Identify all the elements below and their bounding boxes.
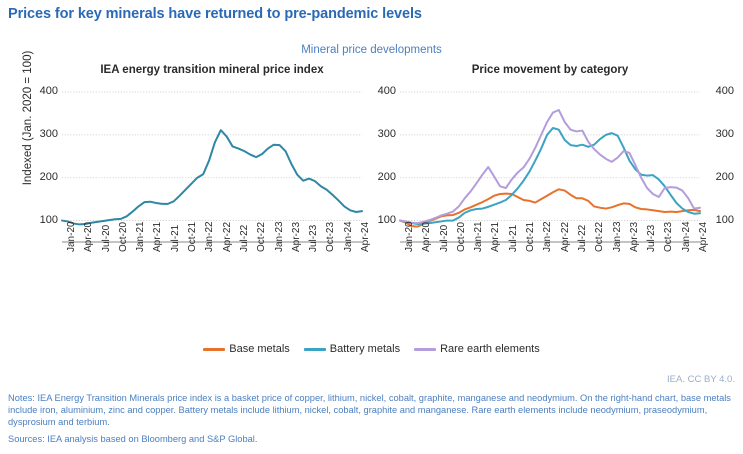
x-tick-label: Apr-22 [222, 222, 233, 252]
y-tick-label: 200 [694, 171, 734, 183]
series-line [62, 130, 362, 224]
legend-swatch [414, 348, 436, 351]
y-tick-label: 100 [18, 214, 58, 226]
legend-swatch [304, 348, 326, 351]
x-tick-label: Jan-21 [473, 221, 484, 252]
x-tick-label: Jul-20 [439, 225, 450, 252]
x-tick-label: Oct-22 [594, 222, 605, 252]
x-tick-label: Apr-23 [629, 222, 640, 252]
legend-label: Rare earth elements [440, 343, 540, 355]
y-tick-label: 300 [18, 128, 58, 140]
legend-item: Battery metals [304, 343, 400, 355]
x-tick-label: Jul-22 [577, 225, 588, 252]
chart-sources: Sources: IEA analysis based on Bloomberg… [8, 434, 257, 444]
y-tick-label: 200 [356, 171, 396, 183]
x-tick-label: Jul-20 [101, 225, 112, 252]
legend-item: Rare earth elements [414, 343, 540, 355]
chart-legend: Base metalsBattery metalsRare earth elem… [0, 343, 743, 355]
x-tick-label: Jan-22 [542, 221, 553, 252]
right-chart-plot [400, 92, 700, 242]
y-tick-label: 400 [694, 85, 734, 97]
y-tick-label: 200 [18, 171, 58, 183]
chart-subtitle: Mineral price developments [0, 44, 743, 56]
x-tick-label: Jan-23 [612, 221, 623, 252]
x-tick-label: Jan-23 [274, 221, 285, 252]
legend-swatch [203, 348, 225, 351]
right-x-axis-labels: Jan-20Apr-20Jul-20Oct-20Jan-21Apr-21Jul-… [400, 246, 700, 308]
y-tick-label: 300 [694, 128, 734, 140]
x-tick-label: Apr-22 [560, 222, 571, 252]
x-tick-label: Apr-21 [152, 222, 163, 252]
x-tick-label: Apr-24 [360, 222, 371, 252]
x-tick-label: Apr-21 [490, 222, 501, 252]
x-tick-label: Jul-22 [239, 225, 250, 252]
license-credit: IEA. CC BY 4.0. [667, 374, 735, 385]
x-tick-label: Apr-24 [698, 222, 709, 252]
x-tick-label: Oct-21 [525, 222, 536, 252]
x-tick-label: Apr-23 [291, 222, 302, 252]
left-x-axis-labels: Jan-20Apr-20Jul-20Oct-20Jan-21Apr-21Jul-… [62, 246, 362, 308]
x-tick-label: Jan-21 [135, 221, 146, 252]
x-tick-label: Jan-24 [343, 221, 354, 252]
legend-label: Base metals [229, 343, 290, 355]
x-tick-label: Jul-21 [508, 225, 519, 252]
x-tick-label: Oct-20 [456, 222, 467, 252]
y-tick-label: 400 [356, 85, 396, 97]
chart-notes: Notes: IEA Energy Transition Minerals pr… [8, 392, 736, 429]
x-tick-label: Jul-21 [170, 225, 181, 252]
page-headline: Prices for key minerals have returned to… [8, 6, 422, 22]
x-tick-label: Jan-22 [204, 221, 215, 252]
x-tick-label: Oct-23 [663, 222, 674, 252]
legend-label: Battery metals [330, 343, 400, 355]
x-tick-label: Jul-23 [308, 225, 319, 252]
x-tick-label: Oct-23 [325, 222, 336, 252]
x-tick-label: Oct-22 [256, 222, 267, 252]
x-tick-label: Oct-21 [187, 222, 198, 252]
x-tick-label: Jan-20 [404, 221, 415, 252]
x-tick-label: Apr-20 [421, 222, 432, 252]
y-tick-label: 300 [356, 128, 396, 140]
x-tick-label: Apr-20 [83, 222, 94, 252]
left-chart-plot [62, 92, 362, 242]
x-tick-label: Jan-24 [681, 221, 692, 252]
series-line [400, 110, 700, 223]
x-tick-label: Jan-20 [66, 221, 77, 252]
x-tick-label: Oct-20 [118, 222, 129, 252]
legend-item: Base metals [203, 343, 290, 355]
y-tick-label: 400 [18, 85, 58, 97]
left-chart-title: IEA energy transition mineral price inde… [62, 64, 362, 76]
right-chart-title: Price movement by category [400, 64, 700, 76]
x-tick-label: Jul-23 [646, 225, 657, 252]
